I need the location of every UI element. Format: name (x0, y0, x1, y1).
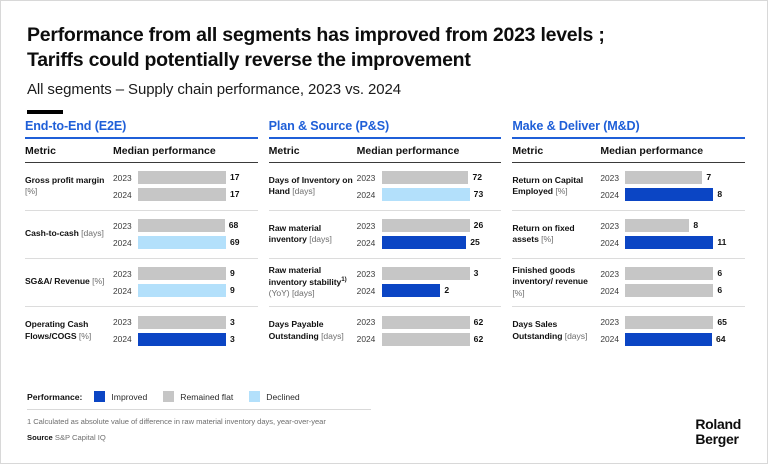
bar-value-label: 3 (470, 267, 479, 280)
bar-value-label: 7 (702, 171, 711, 184)
bar-year-label: 2024 (600, 190, 625, 200)
bar-group: 202368202469 (113, 219, 258, 250)
table-row: Return on fixed assets [%]20238202411 (512, 211, 745, 259)
bar-value-label: 9 (226, 284, 235, 297)
bar-year-label: 2024 (600, 286, 625, 296)
bar-row: 20242 (357, 284, 502, 298)
bar-row: 20239 (113, 267, 258, 281)
legend-item-label: Remained flat (180, 392, 233, 402)
bar (625, 171, 702, 184)
source-label: Source (27, 433, 53, 442)
bar-year-label: 2024 (357, 334, 382, 344)
metric-name: Days Sales Outstanding (512, 319, 562, 340)
bar-year-label: 2024 (600, 238, 625, 248)
bar-track: 9 (138, 284, 258, 297)
bar-row: 202365 (600, 315, 745, 329)
bar-track: 8 (625, 188, 745, 201)
bar-year-label: 2024 (113, 286, 138, 296)
bar-track: 17 (138, 171, 258, 184)
panel-1: End-to-End (E2E)MetricMedian performance… (25, 119, 258, 355)
metric-unit: [days] (79, 228, 104, 238)
title-line-2: Tariffs could potentially reverse the im… (27, 48, 739, 73)
metric-name: Cash-to-cash (25, 228, 79, 238)
source-line: Source S&P Capital IQ (27, 433, 106, 442)
table-row: SG&A/ Revenue [%]2023920249 (25, 259, 258, 307)
column-header-performance: Median performance (600, 145, 745, 157)
bar-value-label: 64 (712, 333, 726, 346)
logo-line-1: Roland (695, 417, 741, 432)
bar-value-label: 8 (689, 219, 698, 232)
metric-label: Raw material inventory [days] (269, 223, 357, 246)
metric-label: Gross profit margin [%] (25, 175, 113, 198)
table-row: Return on Capital Employed [%]2023720248 (512, 163, 745, 211)
bar (382, 316, 470, 329)
bar-value-label: 68 (225, 219, 239, 232)
table-row: Gross profit margin [%]202317202417 (25, 163, 258, 211)
bar (138, 171, 226, 184)
column-header-performance: Median performance (357, 145, 502, 157)
panel-3: Make & Deliver (M&D)MetricMedian perform… (512, 119, 745, 355)
panel-title: Plan & Source (P&S) (269, 119, 502, 133)
footer-divider (27, 409, 371, 410)
metric-name: Finished goods inventory/ revenue (512, 265, 588, 286)
legend-swatch-icon (249, 391, 260, 402)
bar-track: 7 (625, 171, 745, 184)
bar (382, 219, 470, 232)
bar-track: 9 (138, 267, 258, 280)
bar-track: 73 (382, 188, 502, 201)
panel-columns: End-to-End (E2E)MetricMedian performance… (1, 119, 768, 355)
metric-name: SG&A/ Revenue (25, 276, 90, 286)
bar-track: 2 (382, 284, 502, 297)
footnote: 1 Calculated as absolute value of differ… (27, 417, 326, 426)
metric-label: SG&A/ Revenue [%] (25, 276, 113, 287)
bar (625, 219, 689, 232)
page-title: Performance from all segments has improv… (27, 23, 739, 74)
bar-year-label: 2023 (113, 317, 138, 327)
title-line-1: Performance from all segments has improv… (27, 23, 739, 48)
panel-2: Plan & Source (P&S)MetricMedian performa… (269, 119, 502, 355)
bar-row: 202372 (357, 171, 502, 185)
source-value: S&P Capital IQ (55, 433, 106, 442)
bar-year-label: 2023 (357, 269, 382, 279)
bar-track: 69 (138, 236, 258, 249)
legend-item-label: Improved (111, 392, 147, 402)
metric-label: Days Payable Outstanding [days] (269, 319, 357, 342)
metric-label: Operating Cash Flows/COGS [%] (25, 319, 113, 342)
bar-row: 202368 (113, 219, 258, 233)
panel-title: End-to-End (E2E) (25, 119, 258, 133)
bar-value-label: 6 (713, 284, 722, 297)
bar-row: 20237 (600, 171, 745, 185)
bar-year-label: 2024 (113, 334, 138, 344)
bar-value-label: 3 (226, 316, 235, 329)
metric-unit: [%] (512, 288, 524, 298)
bar-track: 11 (625, 236, 745, 249)
bar (138, 188, 226, 201)
bar-year-label: 2024 (600, 334, 625, 344)
column-header-metric: Metric (25, 145, 113, 157)
bar-value-label: 62 (470, 333, 484, 346)
bar-track: 17 (138, 188, 258, 201)
bar (138, 219, 225, 232)
column-header-performance: Median performance (113, 145, 258, 157)
bar-year-label: 2024 (113, 238, 138, 248)
bar-value-label: 9 (226, 267, 235, 280)
bar-value-label: 2 (440, 284, 449, 297)
bar-group: 2023320242 (357, 267, 502, 298)
bar-row: 20248 (600, 188, 745, 202)
bar-group: 2023320243 (113, 315, 258, 346)
bar-value-label: 25 (466, 236, 480, 249)
metric-name: Gross profit margin (25, 175, 104, 185)
bar-year-label: 2023 (600, 269, 625, 279)
bar-year-label: 2024 (357, 190, 382, 200)
bar (138, 236, 226, 249)
table-row: Days Payable Outstanding [days]202362202… (269, 307, 502, 355)
bar-value-label: 3 (226, 333, 235, 346)
bar-row: 20238 (600, 219, 745, 233)
bar-group: 202362202462 (357, 315, 502, 346)
bar (625, 236, 713, 249)
panel-column-headers: MetricMedian performance (25, 139, 258, 162)
metric-unit: [days] (290, 186, 315, 196)
bar (138, 267, 226, 280)
bar-group: 202326202425 (357, 219, 502, 250)
legend-item: Remained flat (163, 391, 233, 402)
bar-row: 202464 (600, 332, 745, 346)
table-row: Cash-to-cash [days]202368202469 (25, 211, 258, 259)
bar-year-label: 2023 (113, 173, 138, 183)
legend-item: Improved (94, 391, 147, 402)
legend-item: Declined (249, 391, 299, 402)
legend-label: Performance: (27, 392, 82, 402)
bar-row: 202362 (357, 315, 502, 329)
metric-label: Cash-to-cash [days] (25, 228, 113, 239)
bar-track: 62 (382, 333, 502, 346)
legend-swatch-icon (163, 391, 174, 402)
table-row: Days of Inventory on Hand [days]20237220… (269, 163, 502, 211)
bar (382, 236, 467, 249)
bar-year-label: 2024 (113, 190, 138, 200)
metric-name: Days Payable Outstanding (269, 319, 324, 340)
slide-header: Performance from all segments has improv… (1, 1, 767, 114)
panel-column-headers: MetricMedian performance (269, 139, 502, 162)
bar-track: 68 (138, 219, 258, 232)
metric-unit: [%] (25, 186, 37, 196)
bar-year-label: 2023 (357, 173, 382, 183)
bar (382, 171, 469, 184)
metric-label: Days Sales Outstanding [days] (512, 319, 600, 342)
bar-row: 202469 (113, 236, 258, 250)
panel-title: Make & Deliver (M&D) (512, 119, 745, 133)
roland-berger-logo: Roland Berger (695, 417, 741, 447)
metric-name: Return on Capital Employed (512, 175, 583, 196)
bar-year-label: 2024 (357, 238, 382, 248)
bar-track: 8 (625, 219, 745, 232)
bar-row: 202425 (357, 236, 502, 250)
bar-track: 65 (625, 316, 745, 329)
bar-track: 72 (382, 171, 502, 184)
footnote-marker: 1) (341, 276, 346, 283)
bar-year-label: 2023 (113, 221, 138, 231)
legend-items: ImprovedRemained flatDeclined (94, 391, 315, 402)
bar (625, 267, 713, 280)
bar-value-label: 11 (713, 236, 726, 249)
bar-group: 2023620246 (600, 267, 745, 298)
bar-row: 20233 (113, 315, 258, 329)
metric-unit: [%] (77, 331, 92, 341)
bar-year-label: 2023 (600, 317, 625, 327)
bar-track: 25 (382, 236, 502, 249)
accent-rule (27, 110, 63, 114)
metric-label: Finished goods inventory/ revenue [%] (512, 265, 600, 299)
metric-label: Return on fixed assets [%] (512, 223, 600, 246)
bar (382, 267, 470, 280)
bar-group: 2023920249 (113, 267, 258, 298)
metric-label: Return on Capital Employed [%] (512, 175, 600, 198)
bar-year-label: 2023 (357, 221, 382, 231)
page-subtitle: All segments – Supply chain performance,… (27, 81, 739, 98)
metric-unit: [%] (553, 186, 568, 196)
bar (138, 333, 226, 346)
bar-track: 6 (625, 284, 745, 297)
legend-swatch-icon (94, 391, 105, 402)
bar-track: 64 (625, 333, 745, 346)
bar (625, 316, 713, 329)
column-header-metric: Metric (269, 145, 357, 157)
bar (138, 316, 226, 329)
bar-track: 26 (382, 219, 502, 232)
bar-value-label: 26 (470, 219, 484, 232)
panel-column-headers: MetricMedian performance (512, 139, 745, 162)
metric-name: Raw material inventory stability (269, 265, 342, 287)
bar-group: 20238202411 (600, 219, 745, 250)
bar-row: 202326 (357, 219, 502, 233)
bar-row: 202417 (113, 188, 258, 202)
bar-year-label: 2024 (357, 286, 382, 296)
bar-value-label: 17 (226, 171, 240, 184)
bar-year-label: 2023 (113, 269, 138, 279)
bar-row: 20236 (600, 267, 745, 281)
bar-track: 62 (382, 316, 502, 329)
legend-item-label: Declined (266, 392, 299, 402)
metric-unit: [%] (539, 234, 554, 244)
metric-label: Days of Inventory on Hand [days] (269, 175, 357, 198)
bar-value-label: 8 (713, 188, 722, 201)
column-header-metric: Metric (512, 145, 600, 157)
bar-value-label: 72 (468, 171, 482, 184)
bar-group: 202317202417 (113, 171, 258, 202)
bar-row: 20246 (600, 284, 745, 298)
metric-unit: [days] (562, 331, 587, 341)
table-row: Operating Cash Flows/COGS [%]2023320243 (25, 307, 258, 355)
bar-track: 3 (138, 316, 258, 329)
table-row: Raw material inventory [days]20232620242… (269, 211, 502, 259)
bar (625, 284, 713, 297)
legend: Performance: ImprovedRemained flatDeclin… (27, 391, 316, 402)
bar-row: 20249 (113, 284, 258, 298)
bar-row: 202317 (113, 171, 258, 185)
bar (382, 284, 441, 297)
bar-track: 3 (382, 267, 502, 280)
bar-row: 202462 (357, 332, 502, 346)
bar-track: 6 (625, 267, 745, 280)
bar-row: 20233 (357, 267, 502, 281)
bar-row: 20243 (113, 332, 258, 346)
bar-value-label: 69 (226, 236, 240, 249)
metric-suffix: (YoY) (269, 288, 290, 298)
bar-value-label: 6 (713, 267, 722, 280)
table-row: Raw material inventory stability1) (YoY)… (269, 259, 502, 307)
metric-label: Raw material inventory stability1) (YoY)… (269, 265, 357, 300)
bar-group: 2023720248 (600, 171, 745, 202)
bar-group: 202365202464 (600, 315, 745, 346)
bar-year-label: 2023 (357, 317, 382, 327)
slide-card: Performance from all segments has improv… (0, 0, 768, 464)
metric-unit: [days] (307, 234, 332, 244)
bar (138, 284, 226, 297)
metric-unit: [days] (319, 331, 344, 341)
bar-value-label: 65 (713, 316, 727, 329)
table-row: Days Sales Outstanding [days]20236520246… (512, 307, 745, 355)
metric-unit: [days] (290, 288, 315, 298)
bar-value-label: 17 (226, 188, 240, 201)
bar (382, 188, 470, 201)
bar (382, 333, 470, 346)
bar (625, 333, 712, 346)
bar-year-label: 2023 (600, 221, 625, 231)
bar-year-label: 2023 (600, 173, 625, 183)
bar-row: 202411 (600, 236, 745, 250)
bar-value-label: 62 (470, 316, 484, 329)
bar-row: 202473 (357, 188, 502, 202)
bar (625, 188, 713, 201)
logo-line-2: Berger (695, 432, 741, 447)
bar-track: 3 (138, 333, 258, 346)
bar-group: 202372202473 (357, 171, 502, 202)
metric-unit: [%] (90, 276, 105, 286)
bar-value-label: 73 (470, 188, 484, 201)
table-row: Finished goods inventory/ revenue [%]202… (512, 259, 745, 307)
